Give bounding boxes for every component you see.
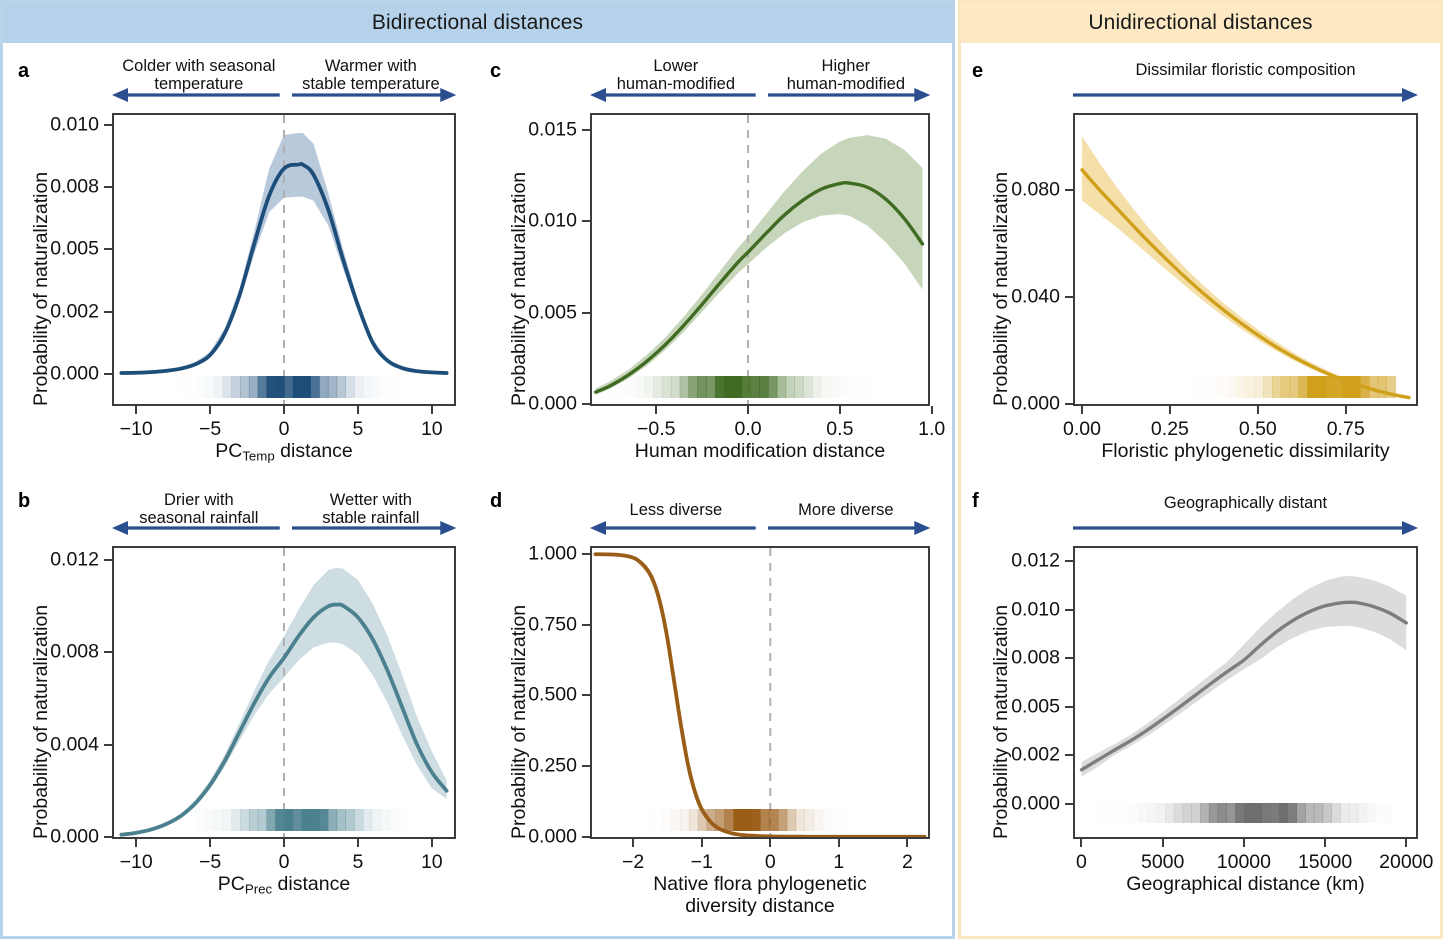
group-unidirectional-banner: Unidirectional distances <box>961 3 1440 43</box>
group-unidirectional: Unidirectional distances <box>958 0 1443 939</box>
group-bidirectional-banner: Bidirectional distances <box>3 3 952 43</box>
group-bidirectional: Bidirectional distances <box>0 0 955 939</box>
